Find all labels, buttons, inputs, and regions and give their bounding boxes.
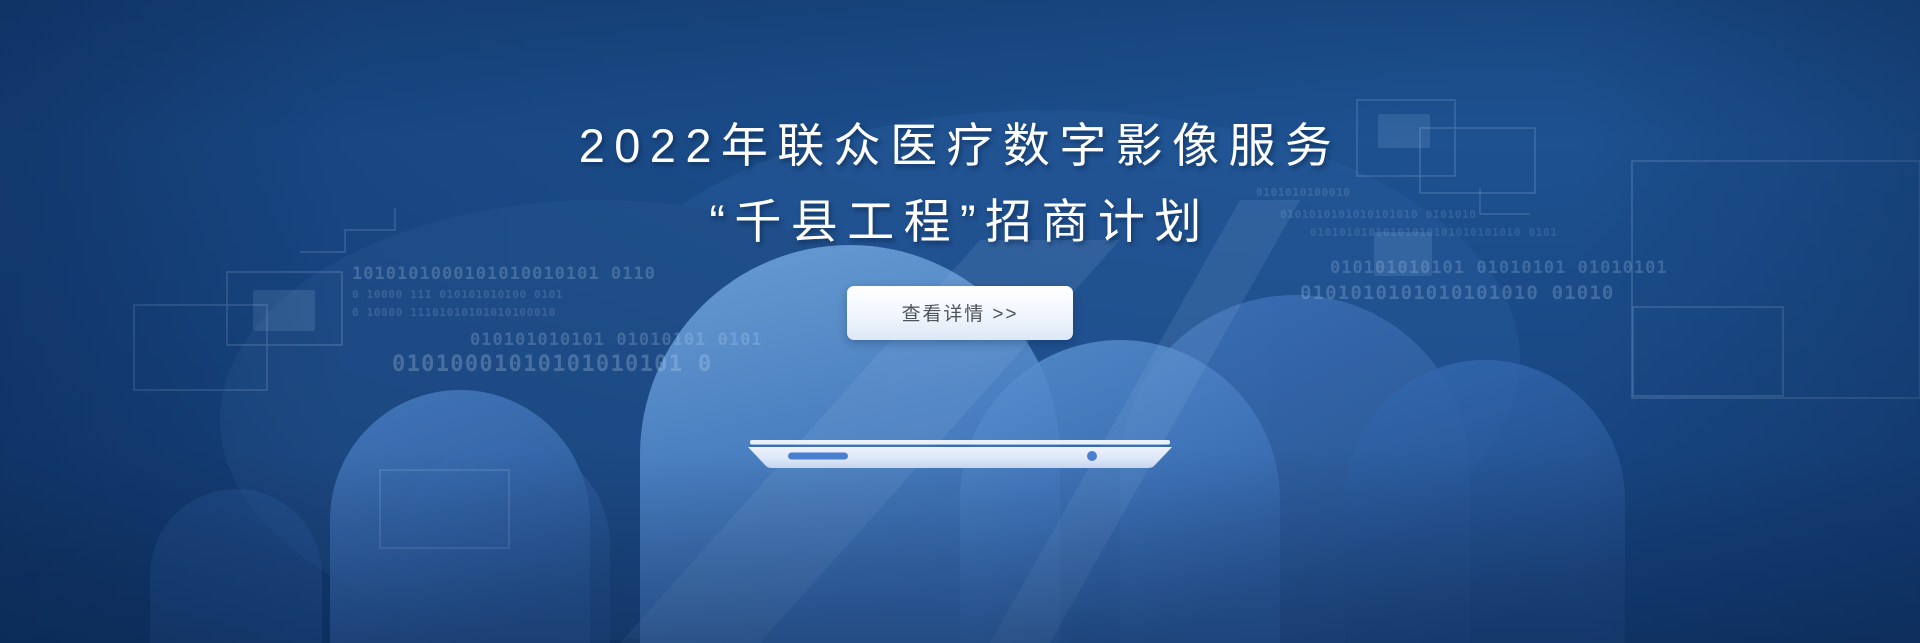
banner-content: 2022年联众医疗数字影像服务 “千县工程”招商计划 查看详情 >> — [0, 0, 1920, 643]
cta-container: 查看详情 >> — [847, 286, 1073, 340]
laptop-icon — [748, 440, 1172, 470]
headline-line-1: 2022年联众医疗数字影像服务 — [579, 108, 1342, 184]
promo-banner: 1010101000101010010101 0110 0 10000 111 … — [0, 0, 1920, 643]
trackpad-bar — [788, 453, 848, 460]
banner-headline: 2022年联众医疗数字影像服务 “千县工程”招商计划 — [579, 108, 1342, 260]
indicator-dot — [1087, 451, 1097, 461]
headline-line-2: “千县工程”招商计划 — [579, 184, 1342, 260]
view-details-button[interactable]: 查看详情 >> — [847, 286, 1073, 340]
